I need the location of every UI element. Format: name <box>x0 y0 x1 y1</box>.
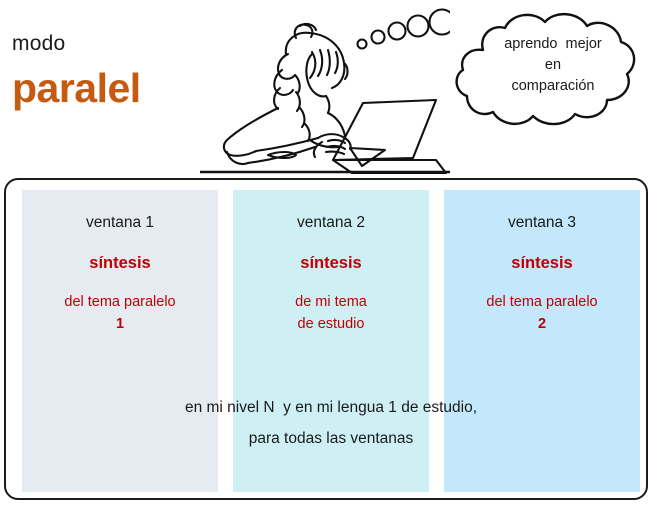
window-description-3: del tema paralelo 2 <box>444 291 640 335</box>
window-panel-2[interactable]: ventana 2 síntesis de mi tema de estudio <box>233 190 429 492</box>
window-description-1: del tema paralelo 1 <box>22 291 218 335</box>
thought-bubble-line-3: comparación <box>463 76 643 97</box>
window-description-2-line-1: de mi tema <box>233 291 429 313</box>
thought-bubble-line-1: aprendo mejor <box>463 34 643 55</box>
student-at-laptop-illustration <box>200 0 450 178</box>
window-description-1-line-1: del tema paralelo <box>22 291 218 313</box>
window-synthesis-1: síntesis <box>22 253 218 273</box>
window-description-3-line-2: 2 <box>444 313 640 335</box>
window-panel-3[interactable]: ventana 3 síntesis del tema paralelo 2 <box>444 190 640 492</box>
thought-bubble-line-2: en <box>463 55 643 76</box>
window-synthesis-3: síntesis <box>444 253 640 273</box>
window-description-2: de mi tema de estudio <box>233 291 429 335</box>
window-title-1: ventana 1 <box>22 213 218 233</box>
window-description-1-line-2: 1 <box>22 313 218 335</box>
window-title-2: ventana 2 <box>233 213 429 233</box>
window-panel-1[interactable]: ventana 1 síntesis del tema paralelo 1 <box>22 190 218 492</box>
window-description-3-line-1: del tema paralelo <box>444 291 640 313</box>
mode-name-paralel: paralel <box>12 68 141 109</box>
mode-label: modo <box>12 33 65 54</box>
window-title-3: ventana 3 <box>444 213 640 233</box>
window-description-2-line-2: de estudio <box>233 313 429 335</box>
window-synthesis-2: síntesis <box>233 253 429 273</box>
thought-bubble-text: aprendo mejor en comparación <box>463 34 643 97</box>
windows-columns: ventana 1 síntesis del tema paralelo 1 v… <box>22 190 640 492</box>
